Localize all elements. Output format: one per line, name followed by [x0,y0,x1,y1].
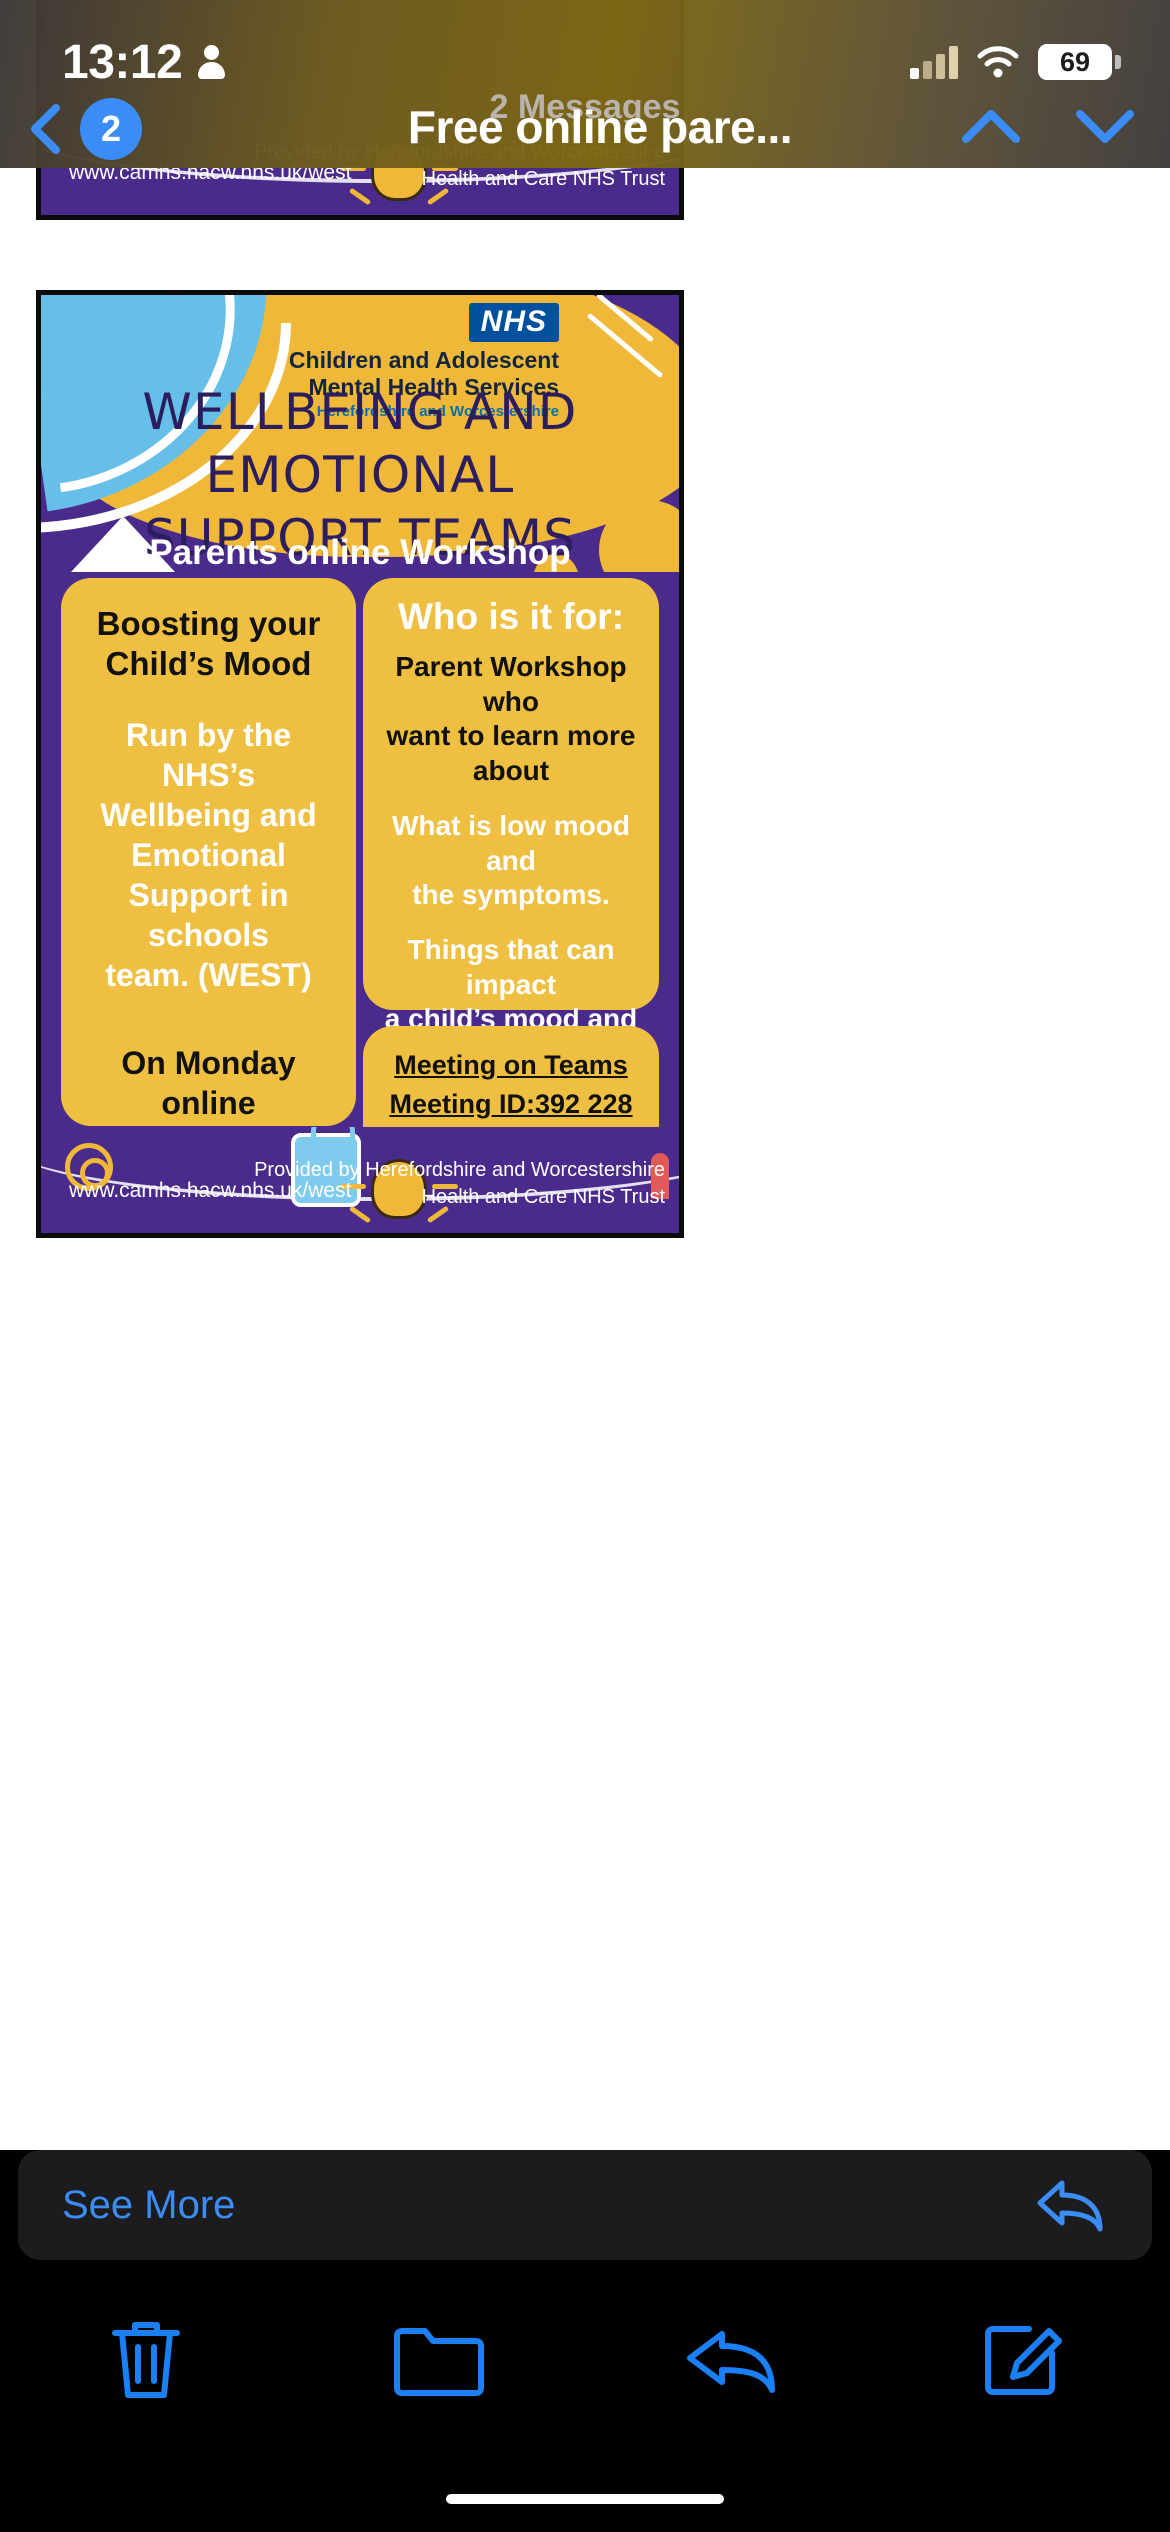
workshop-poster-attachment[interactable]: NHS Children and Adolescent Mental Healt… [36,290,684,1238]
cellular-signal-icon [910,45,958,79]
trash-icon[interactable] [86,2305,206,2415]
person-icon [198,45,224,79]
nav-row: 2 Messages 2 Free online pare... [0,92,1170,168]
home-indicator[interactable] [446,2494,724,2504]
left-card-heading: Boosting your Child’s Mood [77,604,340,685]
chevron-up-icon[interactable] [960,106,1022,146]
nhs-logo: NHS [469,303,559,342]
right-card-point-1: What is low mood and the symptoms. [377,809,645,913]
status-bar: 13:12 69 [0,0,1170,100]
see-more-button[interactable]: See More [62,2183,235,2228]
poster-footer-provider: Provided by Herefordshire and Worcesters… [254,1157,665,1211]
reply-arrow-icon[interactable] [1032,2171,1108,2240]
compose-icon[interactable] [964,2305,1084,2415]
left-card-body: Run by the NHS’s Wellbeing and Emotional… [77,715,340,995]
right-card-heading: Who is it for: [377,596,645,638]
poster-subtitle: Parents online Workshop [41,533,679,572]
message-navigation [960,106,1136,146]
status-bar-left: 13:12 [62,35,224,90]
poster-footer: www.camhs.hacw.nhs.uk/west Provided by H… [41,1127,679,1233]
clock: 13:12 [62,35,182,90]
status-bar-right: 69 [910,44,1112,80]
right-card-intro: Parent Workshop who want to learn more a… [377,650,645,789]
chevron-down-icon[interactable] [1074,106,1136,146]
folder-icon[interactable] [379,2305,499,2415]
wifi-icon [976,45,1020,79]
reply-icon[interactable] [671,2305,791,2415]
poster-hero: NHS Children and Adolescent Mental Healt… [41,295,679,572]
navigation-header: 13:12 69 2 Messages [0,0,1170,168]
message-toolbar [0,2280,1170,2440]
see-more-bar[interactable]: See More [18,2150,1152,2260]
battery-indicator: 69 [1038,44,1112,80]
boosting-mood-card: Boosting your Child’s Mood Run by the NH… [61,578,356,1126]
meeting-title: Meeting on Teams [373,1046,649,1085]
who-is-it-for-card: Who is it for: Parent Workshop who want … [363,578,659,1010]
phone-screen: www.camhs.hacw.nhs.uk/west Provided by H… [0,0,1170,2532]
